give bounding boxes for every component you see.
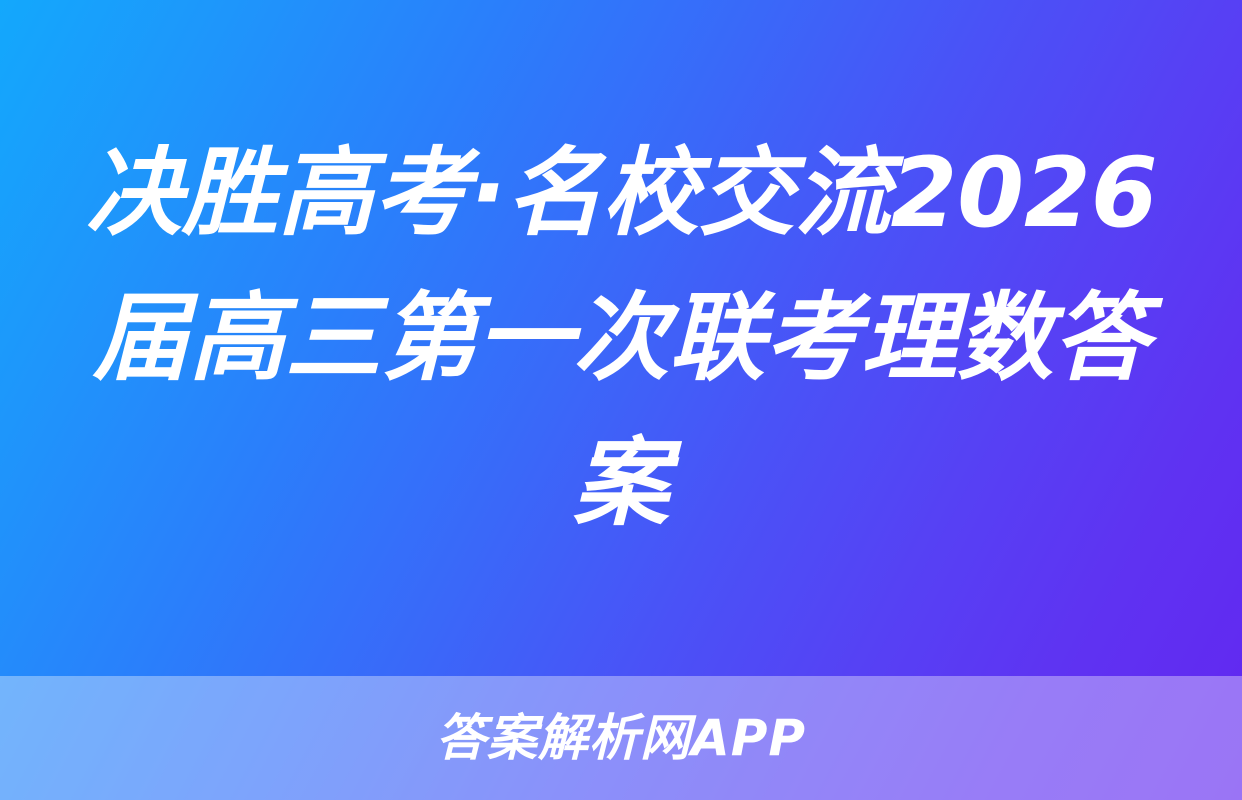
page-title: 决胜高考·名校交流2026 届高三第一次联考理数答 案 (0, 0, 1242, 676)
share-cover-card: 决胜高考·名校交流2026 届高三第一次联考理数答 案 答案解析网APP (0, 0, 1242, 800)
watermark-band: 答案解析网APP (0, 676, 1242, 800)
title-line-1: 决胜高考·名校交流2026 (86, 121, 1156, 266)
app-watermark-label: 答案解析网APP (436, 710, 806, 766)
title-line-2: 届高三第一次联考理数答 (86, 266, 1156, 411)
title-line-3: 案 (86, 411, 1156, 556)
